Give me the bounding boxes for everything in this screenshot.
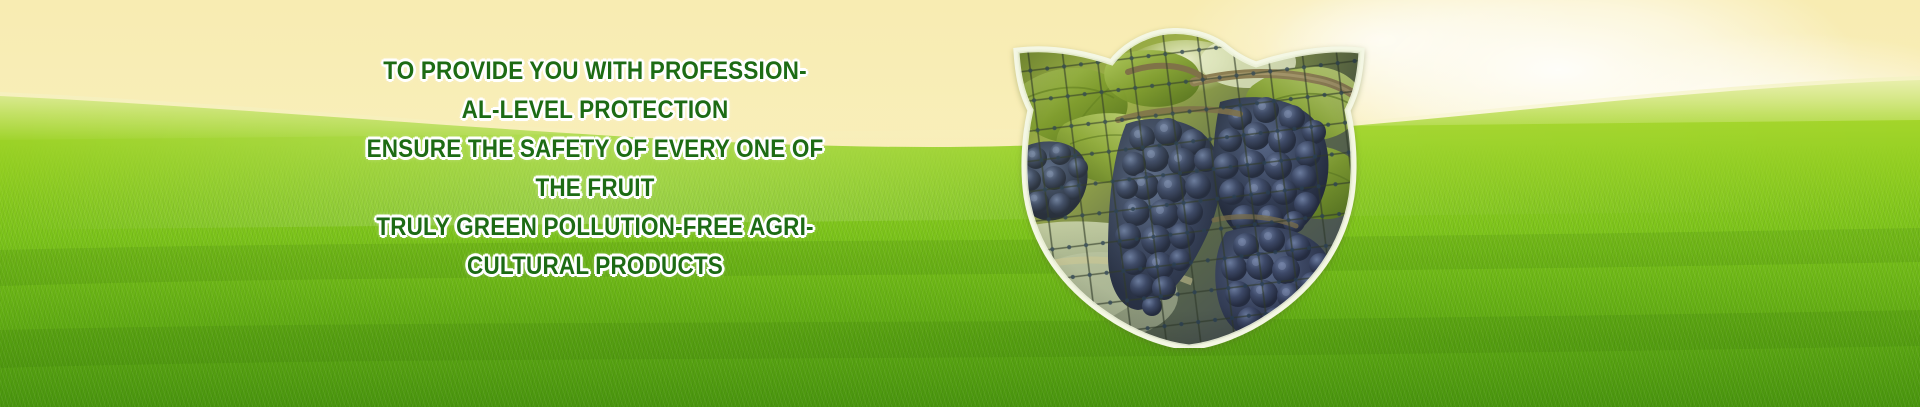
promo-banner: TO PROVIDE YOU WITH PROFESSION- AL-LEVEL… — [0, 0, 1920, 407]
grass-hill-shape — [0, 0, 1920, 407]
shield-photo — [1008, 28, 1370, 348]
grape-shield-emblem — [1008, 28, 1370, 348]
slogan-line-1: TO PROVIDE YOU WITH PROFESSION- — [321, 52, 870, 91]
slogan-line-5: TRULY GREEN POLLUTION-FREE AGRI- — [321, 208, 870, 247]
slogan-line-4: THE FRUIT — [321, 169, 870, 208]
slogan-line-6: CULTURAL PRODUCTS — [321, 247, 870, 286]
slogan-line-2: AL-LEVEL PROTECTION — [321, 91, 870, 130]
slogan-block: TO PROVIDE YOU WITH PROFESSION- AL-LEVEL… — [290, 52, 900, 286]
slogan-line-3: ENSURE THE SAFETY OF EVERY ONE OF — [321, 130, 870, 169]
grass-field — [0, 0, 1920, 407]
